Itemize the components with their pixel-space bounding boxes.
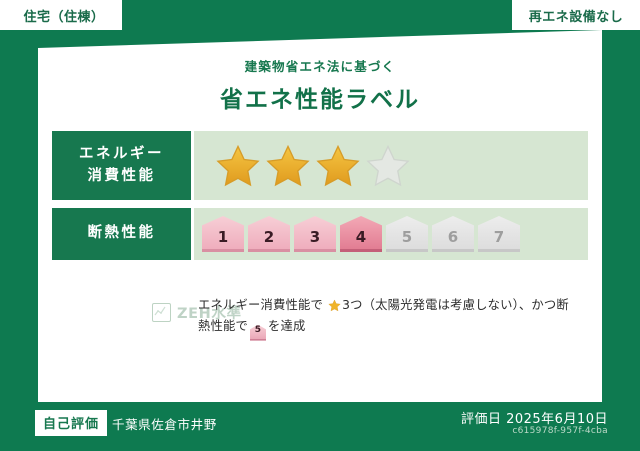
- title-block: 建築物省エネ法に基づく 省エネ性能ラベル: [38, 56, 602, 114]
- star-filled-icon: [314, 143, 362, 189]
- self-evaluation-badge: 自己評価: [35, 410, 107, 436]
- star-filled-icon: [214, 143, 262, 189]
- star-rating: [194, 143, 412, 189]
- energy-performance-label: 住宅（住棟） 再エネ設備なし 建築物省エネ法に基づく 省エネ性能ラベル エネルギ…: [0, 0, 640, 451]
- achievement-note: エネルギー消費性能で 3つ（太陽光発電は考慮しない）、かつ断熱性能で5を達成: [184, 292, 576, 341]
- title-subtitle: 建築物省エネ法に基づく: [38, 56, 602, 75]
- renewable-energy-tag: 再エネ設備なし: [512, 0, 640, 30]
- energy-label-line2: 消費性能: [88, 166, 156, 187]
- note-part3: を達成: [268, 319, 306, 333]
- grade-badge-3: 3: [294, 216, 336, 252]
- label-sheet: 建築物省エネ法に基づく 省エネ性能ラベル エネルギー 消費性能: [38, 30, 602, 402]
- insulation-row: 断熱性能 1 2 3 4 5 6 7: [52, 208, 588, 260]
- inline-star-icon: [328, 299, 341, 312]
- insulation-label: 断熱性能: [52, 208, 191, 260]
- grade-badge-6: 6: [432, 216, 474, 252]
- grade-badge-2: 2: [248, 216, 290, 252]
- evaluation-date: 評価日 2025年6月10日: [461, 408, 608, 427]
- inline-grade-badge: 5: [250, 325, 266, 341]
- label-footer: 自己評価 千葉県佐倉市井野 評価日 2025年6月10日 c615978f-95…: [0, 402, 640, 451]
- evaluation-id: c615978f-957f-4cba: [512, 426, 608, 436]
- star-filled-icon: [264, 143, 312, 189]
- energy-consumption-value: [194, 131, 588, 200]
- star-empty-icon: [364, 143, 412, 189]
- grade-badge-1: 1: [202, 216, 244, 252]
- grade-badge-4-active: 4: [340, 216, 382, 252]
- zeh-standard-indicator: ZEH水準: [56, 292, 184, 323]
- address-text: 千葉県佐倉市井野: [112, 414, 217, 433]
- page-title: 省エネ性能ラベル: [38, 80, 602, 114]
- insulation-value: 1 2 3 4 5 6 7: [194, 208, 588, 260]
- note-part1: エネルギー消費性能で: [198, 298, 323, 312]
- insulation-grade-scale: 1 2 3 4 5 6 7: [194, 216, 520, 252]
- note-star-count: 3つ: [342, 298, 363, 312]
- evaluation-date-value: 2025年6月10日: [506, 412, 608, 427]
- building-type-tag: 住宅（住棟）: [0, 0, 122, 30]
- grade-badge-7: 7: [478, 216, 520, 252]
- zeh-chart-icon: [152, 303, 171, 322]
- evaluation-date-label: 評価日: [461, 412, 502, 427]
- zeh-note-row: ZEH水準 エネルギー消費性能で 3つ（太陽光発電は考慮しない）、かつ断熱性能で…: [56, 292, 576, 341]
- energy-consumption-row: エネルギー 消費性能: [52, 131, 588, 200]
- grade-badge-5: 5: [386, 216, 428, 252]
- energy-label-line1: エネルギー: [79, 144, 164, 165]
- insulation-label-text: 断熱性能: [88, 223, 156, 244]
- energy-consumption-label: エネルギー 消費性能: [52, 131, 191, 200]
